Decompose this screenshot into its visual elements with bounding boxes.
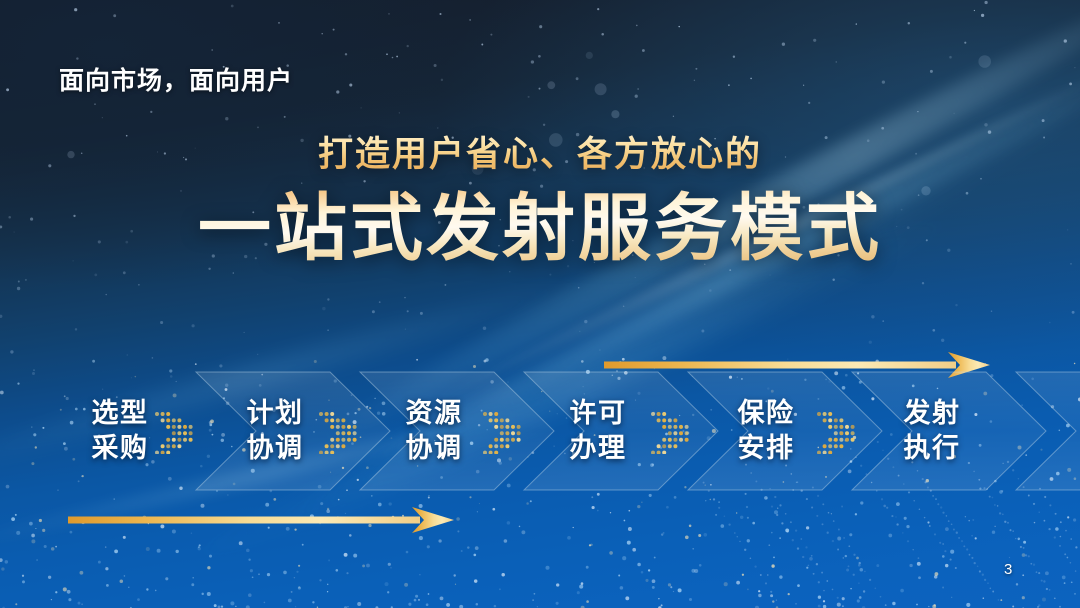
page-number: 3	[1004, 561, 1012, 578]
chevron-dots-glyph	[815, 408, 855, 454]
process-step-6[interactable]: 发射 执行	[872, 370, 992, 492]
chevron-dots-icon-3	[478, 370, 524, 492]
chevron-dots-glyph	[153, 408, 193, 454]
arrow-right-icon-bottom	[68, 507, 454, 533]
headline-subtitle: 打造用户省心、各方放心的	[0, 134, 1080, 176]
chevron-dots-glyph	[649, 408, 689, 454]
process-step-5[interactable]: 保险 安排	[706, 370, 826, 492]
chevron-dots-icon-2	[314, 370, 360, 492]
process-band: 选型 采购 计划 协调 资源 协调 许可 办理 保险 安排 发射 执行	[0, 370, 1080, 492]
chevron-dots-icon-5	[812, 370, 858, 492]
chevron-dots-icon-4	[646, 370, 692, 492]
process-step-4-label: 许可 办理	[570, 396, 627, 465]
process-step-3-label: 资源 协调	[406, 396, 463, 465]
chevron-dots-glyph	[317, 408, 357, 454]
page-kicker: 面向市场，面向用户	[59, 61, 293, 97]
process-step-1-label: 选型 采购	[92, 396, 149, 465]
slide-canvas: 面向市场，面向用户 打造用户省心、各方放心的 一站式发射服务模式	[0, 0, 1080, 608]
process-step-6-label: 发射 执行	[904, 396, 961, 465]
headline-block: 打造用户省心、各方放心的 一站式发射服务模式	[0, 134, 1080, 270]
process-step-3[interactable]: 资源 协调	[374, 370, 494, 492]
process-step-4[interactable]: 许可 办理	[538, 370, 658, 492]
process-step-5-label: 保险 安排	[738, 396, 795, 465]
chevron-dots-icon-1	[150, 370, 196, 492]
page-title: 一站式发射服务模式	[0, 188, 1080, 270]
process-step-2-label: 计划 协调	[247, 396, 304, 465]
process-steps: 选型 采购 计划 协调 资源 协调 许可 办理 保险 安排 发射 执行	[0, 370, 1080, 492]
chevron-dots-glyph	[481, 408, 521, 454]
